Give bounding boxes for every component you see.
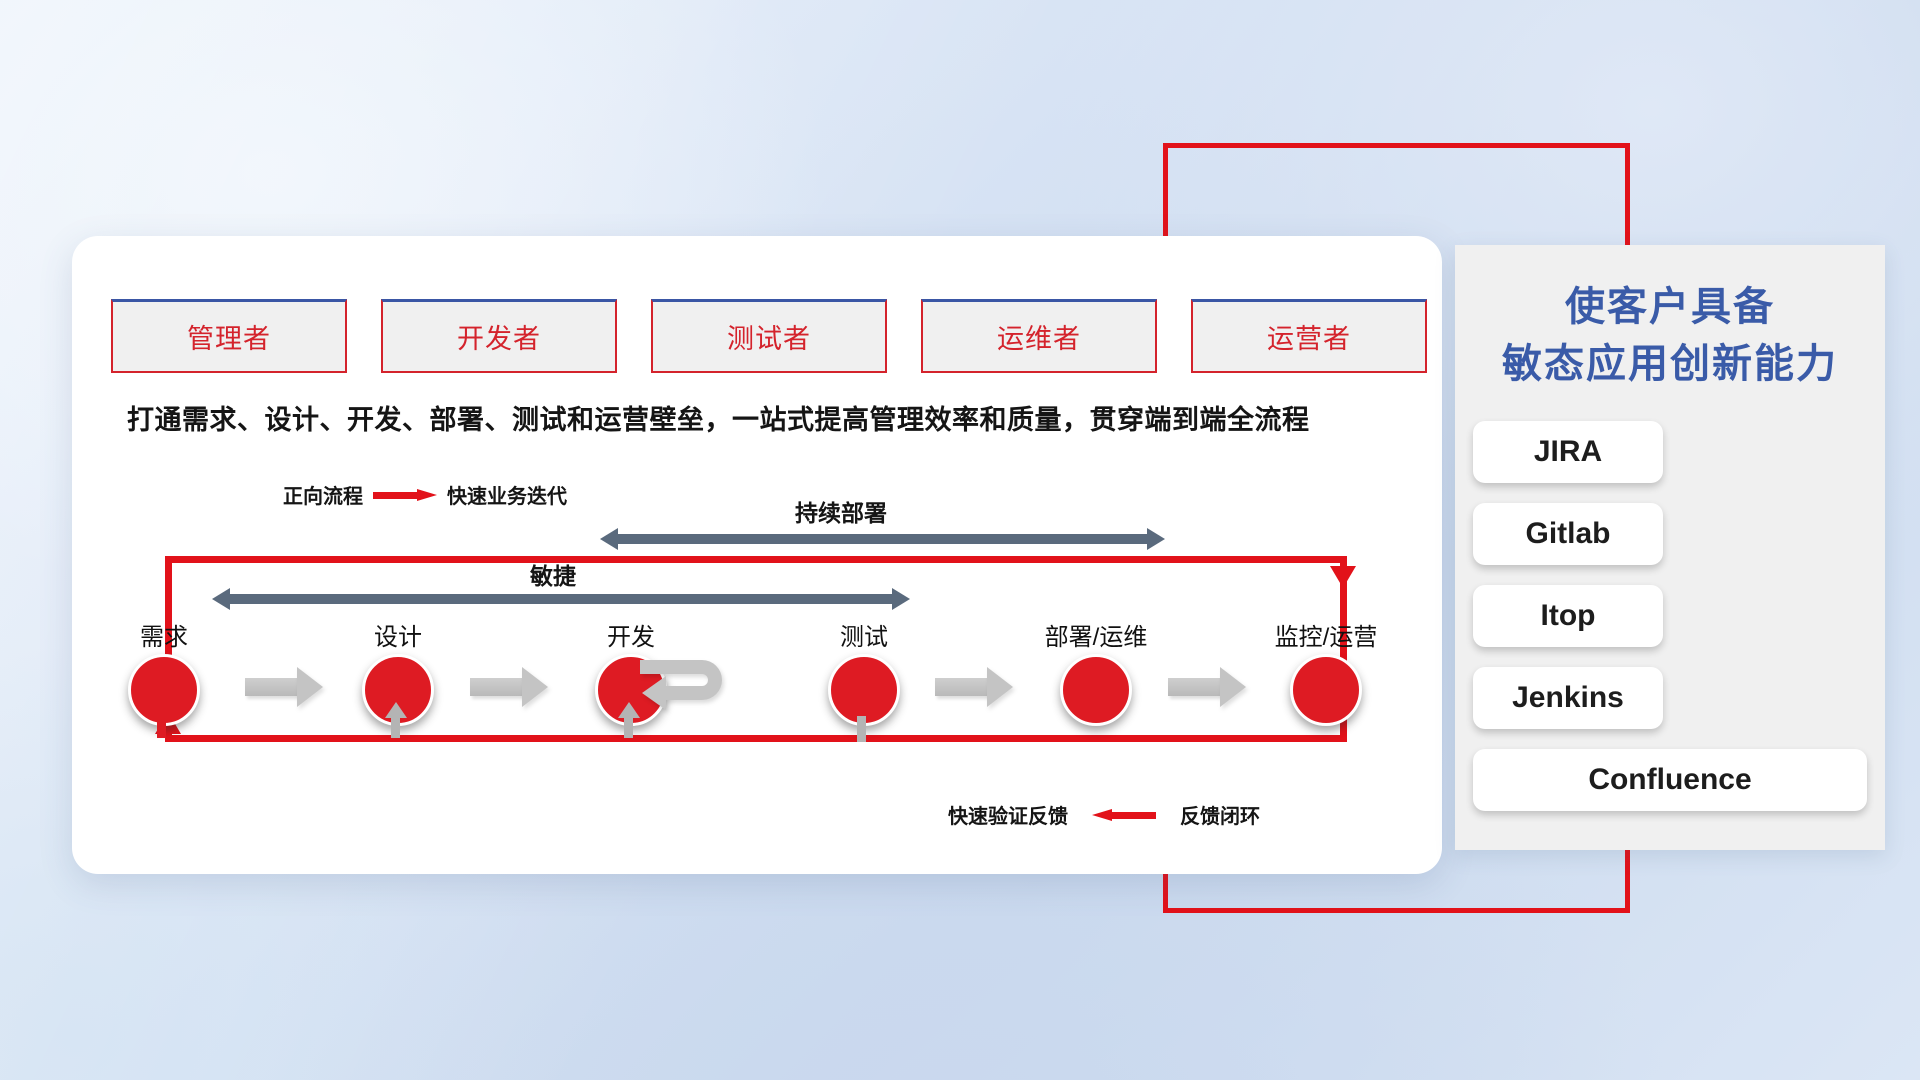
role-box-operator[interactable]: 运营者: [1191, 299, 1427, 373]
tool-chip-confluence[interactable]: Confluence: [1473, 749, 1867, 811]
pipeline-node-label: 设计: [374, 617, 422, 652]
pipeline-node-dot: [362, 654, 434, 726]
role-box-group: 管理者 开发者 测试者 运维者 运营者: [111, 299, 1427, 373]
double-arrow-agile-icon: [212, 588, 910, 610]
value-panel: 使客户具备 敏态应用创新能力 JIRA Gitlab Itop Jenkins …: [1455, 245, 1885, 850]
pipeline-node-requirements[interactable]: 需求: [128, 654, 200, 726]
panel-title-line-1: 使客户具备: [1455, 279, 1885, 336]
panel-title-line-2: 敏态应用创新能力: [1455, 336, 1885, 393]
tool-chip-jenkins[interactable]: Jenkins: [1473, 667, 1663, 729]
legend-forward-right-label: 快速业务迭代: [447, 480, 567, 509]
tool-chip-gitlab[interactable]: Gitlab: [1473, 503, 1663, 565]
tool-label: Jenkins: [1512, 681, 1624, 715]
role-box-ops[interactable]: 运维者: [921, 299, 1157, 373]
pipeline-node-testing[interactable]: 测试: [828, 654, 900, 726]
pipeline-node-dot: [128, 654, 200, 726]
pipeline-node-dot: [1290, 654, 1362, 726]
pipeline-node-monitor-operations[interactable]: 监控/运营: [1290, 654, 1362, 726]
pipeline-node-dot: [828, 654, 900, 726]
double-arrow-continuous-deployment-icon: [600, 528, 1165, 550]
route-line-top: [1163, 143, 1630, 148]
legend-forward-flow: 正向流程 快速业务迭代: [283, 480, 567, 509]
tool-label: Confluence: [1588, 763, 1751, 797]
panel-title: 使客户具备 敏态应用创新能力: [1455, 279, 1885, 393]
feedback-loop-bottom: [165, 735, 1347, 742]
pipeline-node-dot: [595, 654, 667, 726]
role-label: 开发者: [457, 317, 541, 356]
legend-feedback-right-label: 反馈闭环: [1180, 800, 1260, 829]
role-label: 测试者: [727, 317, 811, 356]
role-label: 运维者: [997, 317, 1081, 356]
pipeline-node-dot: [1060, 654, 1132, 726]
pipeline-node-label: 需求: [140, 617, 188, 652]
pipeline-node-design[interactable]: 设计: [362, 654, 434, 726]
tool-label: Gitlab: [1525, 517, 1610, 551]
feedback-loop-arrowhead-down-icon: [1330, 566, 1356, 588]
arrow-right-red-icon: [373, 489, 437, 501]
headline-text: 打通需求、设计、开发、部署、测试和运营壁垒，一站式提高管理效率和质量，贯穿端到端…: [127, 398, 1417, 437]
role-label: 管理者: [187, 317, 271, 356]
role-label: 运营者: [1267, 317, 1351, 356]
legend-feedback-loop: 快速验证反馈 反馈闭环: [948, 800, 1260, 829]
route-line-bottom: [1163, 908, 1630, 913]
tool-chip-itop[interactable]: Itop: [1473, 585, 1663, 647]
role-box-manager[interactable]: 管理者: [111, 299, 347, 373]
pipeline-node-deploy-ops[interactable]: 部署/运维: [1060, 654, 1132, 726]
tool-chip-jira[interactable]: JIRA: [1473, 421, 1663, 483]
band-label-continuous-deployment: 持续部署: [795, 494, 887, 528]
legend-feedback-left-label: 快速验证反馈: [948, 800, 1068, 829]
pipeline-node-label: 测试: [840, 617, 888, 652]
tool-label: JIRA: [1534, 435, 1602, 469]
arrow-left-red-icon: [1092, 809, 1156, 821]
pipeline-node-development[interactable]: 开发: [595, 654, 667, 726]
feedback-loop-top: [165, 556, 1347, 563]
role-box-tester[interactable]: 测试者: [651, 299, 887, 373]
legend-forward-left-label: 正向流程: [283, 480, 363, 509]
role-box-developer[interactable]: 开发者: [381, 299, 617, 373]
pipeline-node-label: 开发: [607, 617, 655, 652]
tool-list: JIRA Gitlab Itop Jenkins Confluence: [1473, 421, 1867, 811]
tool-label: Itop: [1541, 599, 1596, 633]
pipeline-node-label: 部署/运维: [1045, 617, 1148, 652]
pipeline-node-label: 监控/运营: [1275, 617, 1378, 652]
